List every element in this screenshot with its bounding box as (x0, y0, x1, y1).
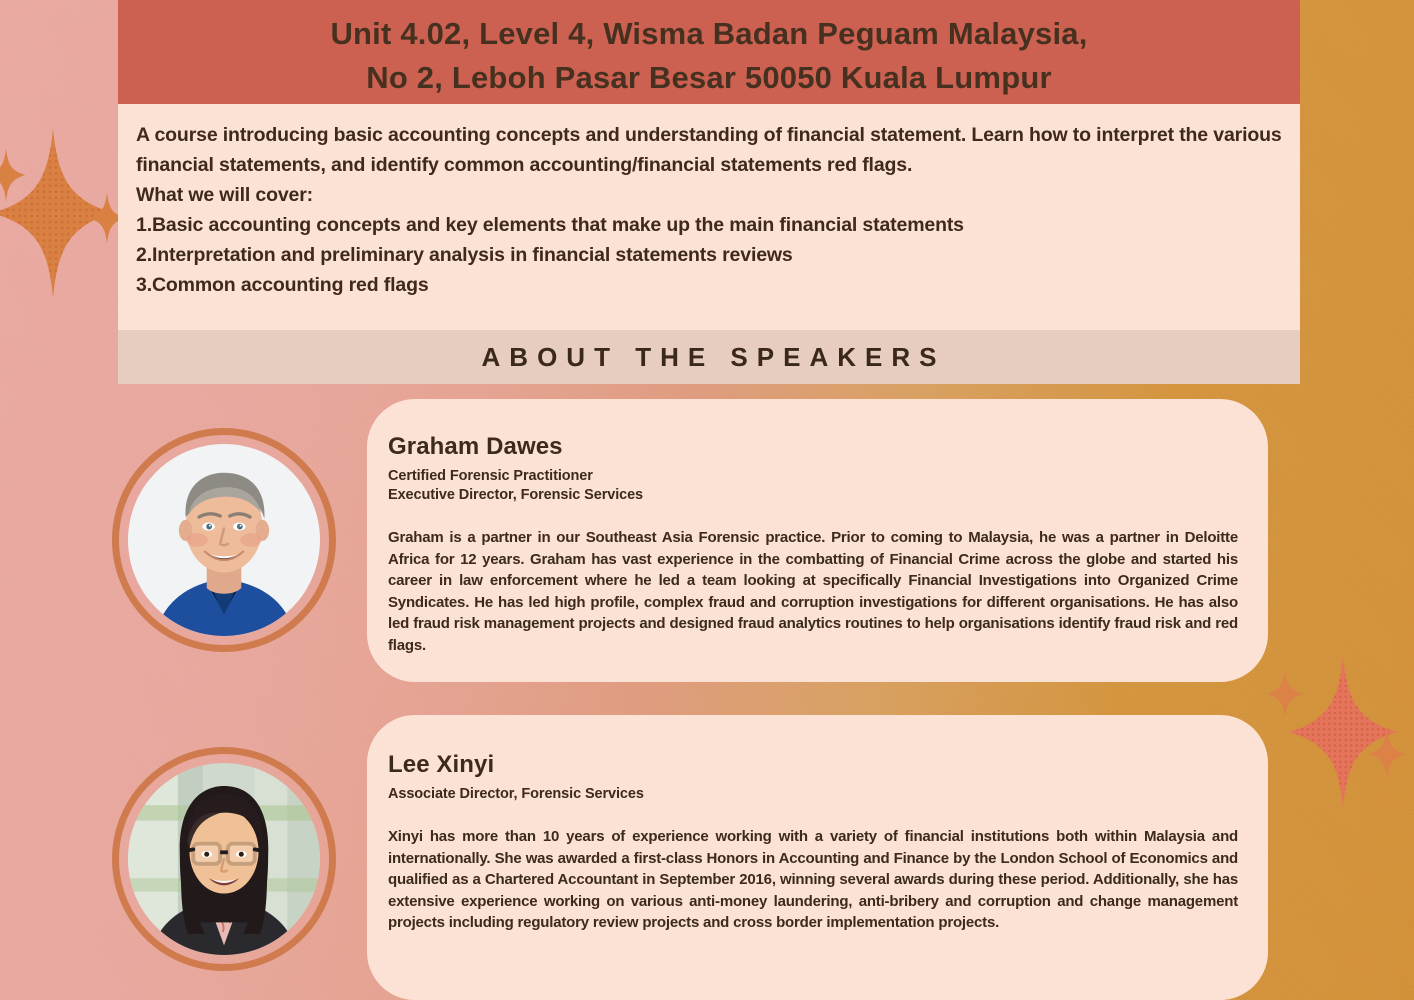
course-intro-text: A course introducing basic accounting co… (136, 120, 1282, 180)
avatar-photo (128, 444, 320, 636)
speaker-avatar-lee-xinyi (112, 747, 336, 971)
address-line-1: Unit 4.02, Level 4, Wisma Badan Peguam M… (146, 12, 1272, 56)
sparkle-large-right-icon (1288, 656, 1398, 808)
speaker-bio: Graham is a partner in our Southeast Asi… (388, 527, 1238, 656)
course-description-block: A course introducing basic accounting co… (118, 104, 1300, 330)
speaker-role-line-1: Certified Forensic Practitioner (388, 467, 1238, 486)
cover-item-3: 3.Common accounting red flags (136, 270, 1282, 300)
speaker-card-lee-xinyi: Lee Xinyi Associate Director, Forensic S… (367, 715, 1268, 1000)
speaker-bio: Xinyi has more than 10 years of experien… (388, 826, 1238, 934)
cover-heading: What we will cover: (136, 180, 1282, 210)
speaker-avatar-graham-dawes (112, 428, 336, 652)
speaker-name: Lee Xinyi (388, 751, 1238, 779)
speaker-role-line-2: Executive Director, Forensic Services (388, 486, 1238, 505)
sparkle-small-right-lower-icon (1368, 728, 1406, 780)
content-column: Unit 4.02, Level 4, Wisma Badan Peguam M… (118, 0, 1300, 384)
sparkle-small-left-upper-icon (0, 148, 26, 202)
about-the-speakers-band: ABOUT THE SPEAKERS (118, 330, 1300, 384)
avatar-photo (128, 763, 320, 955)
speaker-card-graham-dawes: Graham Dawes Certified Forensic Practiti… (367, 399, 1268, 682)
address-line-2: No 2, Leboh Pasar Besar 50050 Kuala Lump… (146, 56, 1272, 100)
cover-item-2: 2.Interpretation and preliminary analysi… (136, 240, 1282, 270)
sparkle-small-right-upper-icon (1267, 669, 1303, 719)
about-the-speakers-title: ABOUT THE SPEAKERS (473, 342, 946, 373)
address-banner: Unit 4.02, Level 4, Wisma Badan Peguam M… (118, 0, 1300, 104)
poster-canvas: Unit 4.02, Level 4, Wisma Badan Peguam M… (0, 0, 1414, 1000)
speaker-name: Graham Dawes (388, 433, 1238, 461)
speaker-role-line-1: Associate Director, Forensic Services (388, 785, 1238, 804)
sparkle-large-left-icon (0, 128, 114, 298)
cover-item-1: 1.Basic accounting concepts and key elem… (136, 210, 1282, 240)
